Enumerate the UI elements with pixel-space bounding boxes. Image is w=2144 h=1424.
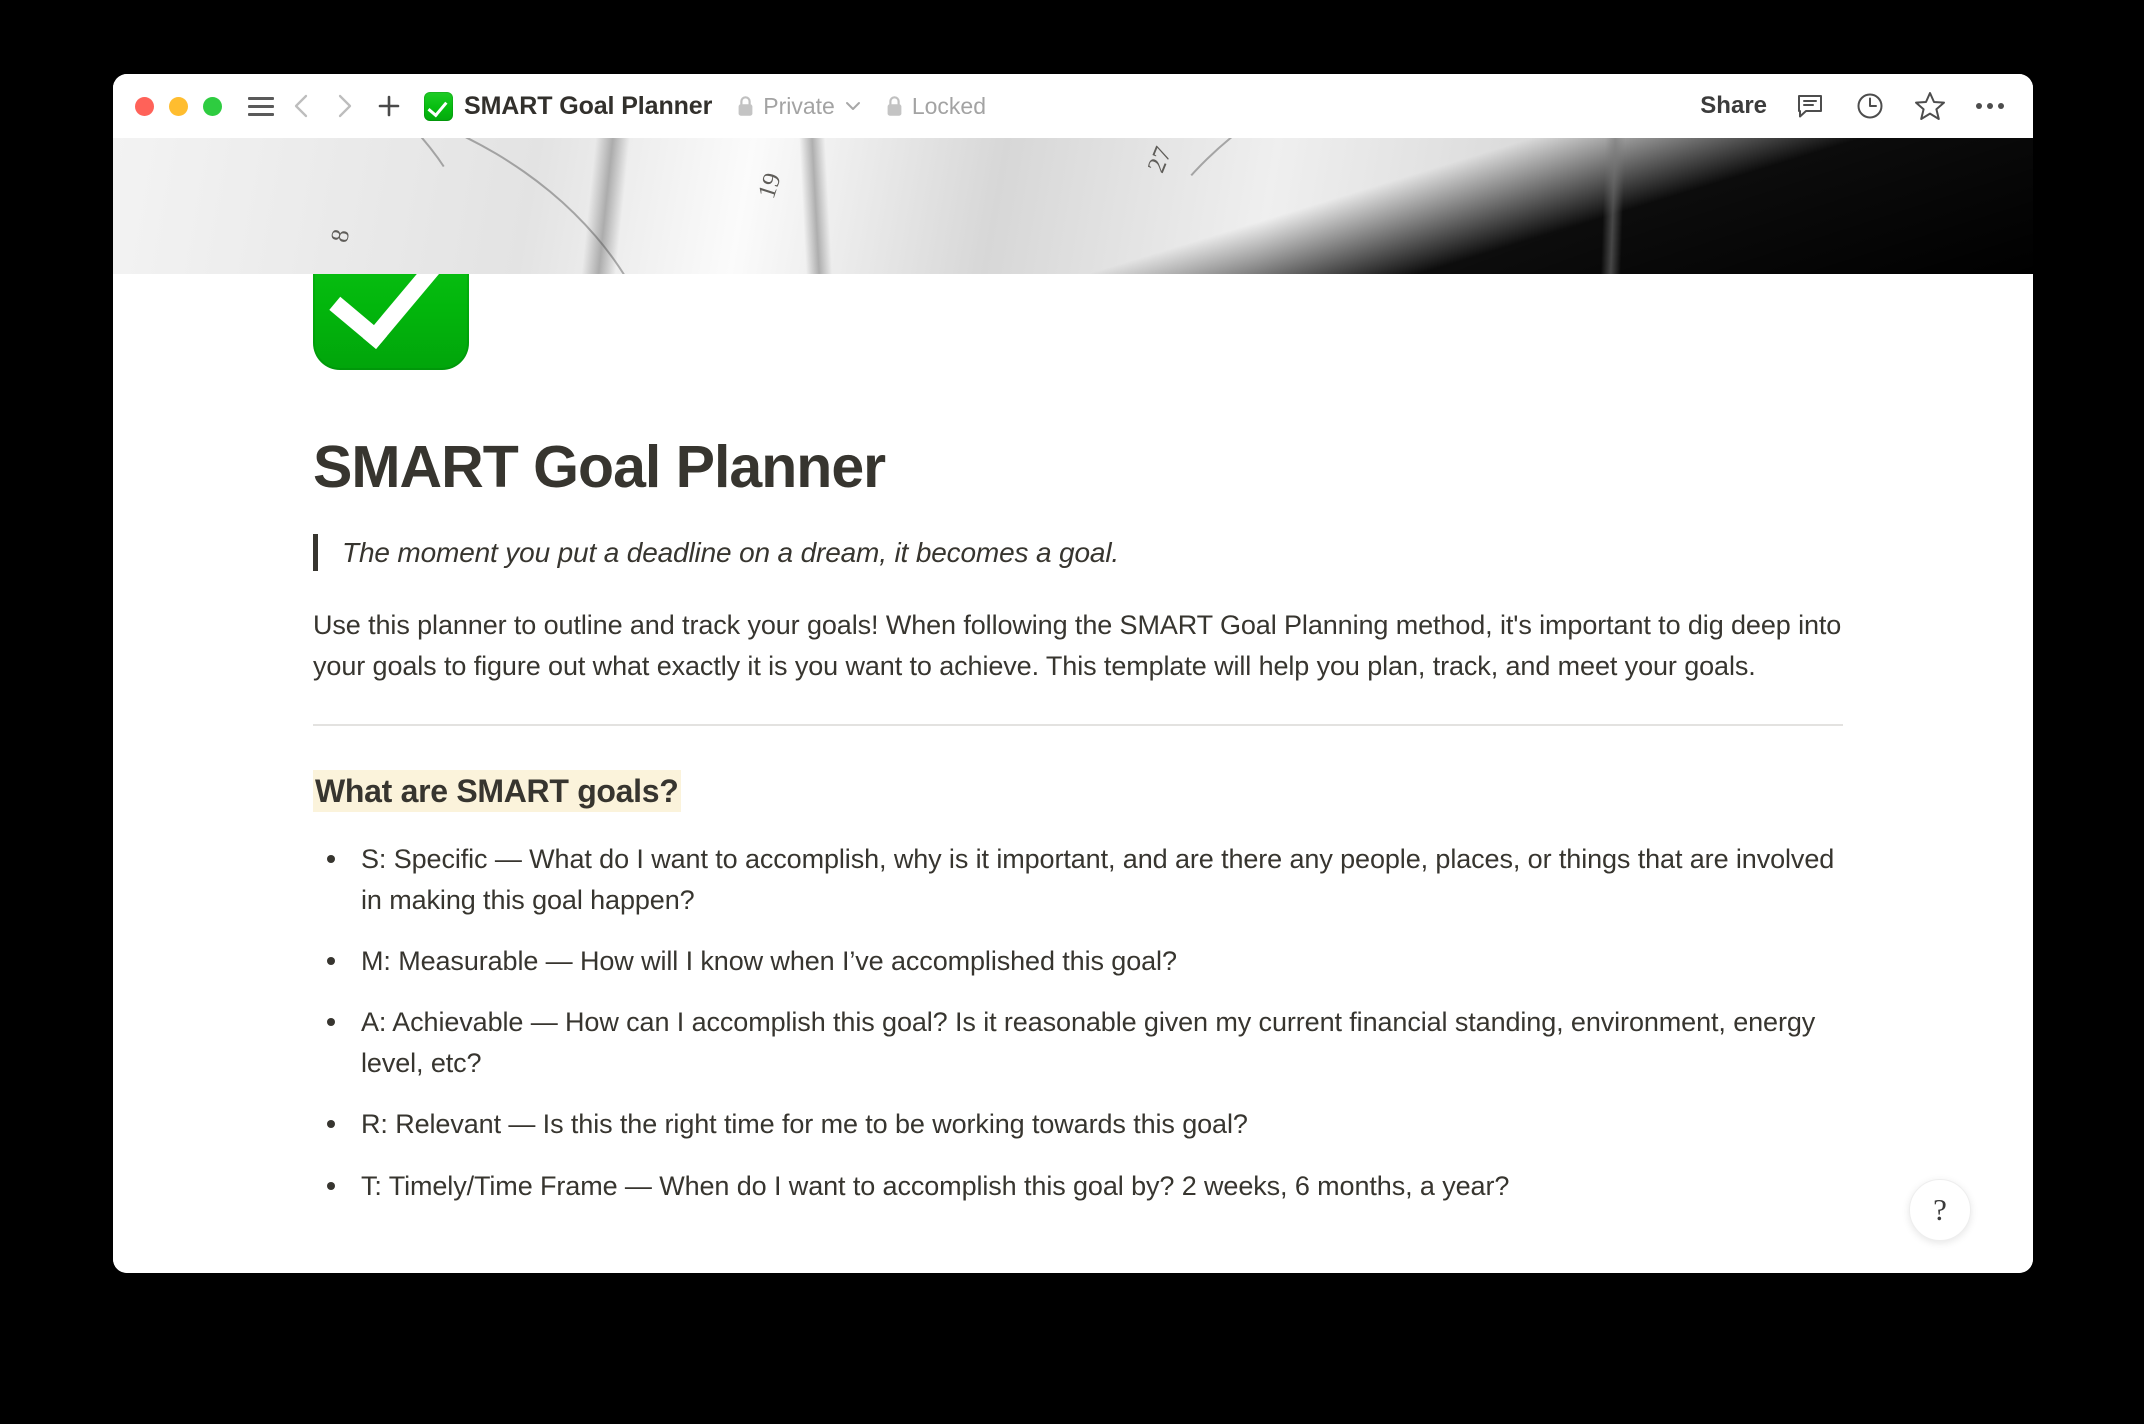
divider	[313, 724, 1843, 726]
list-item[interactable]: A: Achievable — How can I accomplish thi…	[313, 1002, 1843, 1084]
hamburger-icon	[248, 97, 274, 116]
ellipsis-icon	[1998, 103, 2004, 109]
bullet-icon	[327, 957, 335, 965]
plus-icon	[376, 93, 402, 119]
locked-label: Locked	[912, 93, 986, 120]
comments-button[interactable]	[1793, 89, 1827, 123]
smart-goals-list: S: Specific — What do I want to accompli…	[313, 839, 1843, 1206]
privacy-label: Private	[763, 93, 835, 120]
minimize-button[interactable]	[169, 97, 188, 116]
close-button[interactable]	[135, 97, 154, 116]
ellipsis-icon	[1987, 103, 1993, 109]
chevron-down-icon	[845, 101, 861, 111]
list-item[interactable]: R: Relevant — Is this the right time for…	[313, 1104, 1843, 1145]
privacy-selector[interactable]: Private	[736, 93, 861, 120]
app-window: SMART Goal Planner Private Locked Share	[113, 74, 2033, 1273]
maximize-button[interactable]	[203, 97, 222, 116]
page-emoji-icon	[424, 92, 453, 121]
star-icon	[1914, 90, 1946, 122]
page-body: SMART Goal Planner The moment you put a …	[113, 274, 2033, 1273]
breadcrumb[interactable]: SMART Goal Planner	[424, 92, 712, 121]
section-heading-wrapper: What are SMART goals?	[313, 770, 1843, 813]
page-content: SMART Goal Planner The moment you put a …	[313, 434, 1843, 1227]
forward-button[interactable]	[328, 89, 362, 123]
ellipsis-icon	[1976, 103, 1982, 109]
share-button[interactable]: Share	[1700, 92, 1767, 120]
more-options-button[interactable]	[1973, 89, 2007, 123]
list-item-text: R: Relevant — Is this the right time for…	[361, 1104, 1843, 1145]
quote-text: The moment you put a deadline on a dream…	[342, 537, 1119, 569]
page-title[interactable]: SMART Goal Planner	[313, 434, 1843, 500]
page-cover[interactable]: 8 19 27	[113, 138, 2033, 274]
bullet-icon	[327, 855, 335, 863]
quote-bar	[313, 534, 318, 571]
window-controls	[135, 97, 222, 116]
cover-photo: 8 19 27	[113, 138, 2033, 274]
list-item-text: S: Specific — What do I want to accompli…	[361, 839, 1843, 921]
locked-indicator[interactable]: Locked	[885, 93, 986, 120]
comment-icon	[1795, 91, 1825, 121]
list-item-text: A: Achievable — How can I accomplish thi…	[361, 1002, 1843, 1084]
list-item[interactable]: T: Timely/Time Frame — When do I want to…	[313, 1166, 1843, 1207]
new-page-button[interactable]	[372, 89, 406, 123]
lock-icon	[736, 95, 755, 118]
toolbar: SMART Goal Planner Private Locked Share	[113, 74, 2033, 138]
sidebar-toggle-button[interactable]	[244, 89, 278, 123]
list-item-text: M: Measurable — How will I know when I’v…	[361, 941, 1843, 982]
section-heading[interactable]: What are SMART goals?	[313, 770, 681, 812]
back-button[interactable]	[284, 89, 318, 123]
cover-number: 19	[753, 170, 787, 202]
list-item[interactable]: S: Specific — What do I want to accompli…	[313, 839, 1843, 921]
intro-paragraph[interactable]: Use this planner to outline and track yo…	[313, 605, 1843, 687]
toolbar-actions: Share	[1700, 89, 2007, 123]
bullet-icon	[327, 1182, 335, 1190]
history-button[interactable]	[1853, 89, 1887, 123]
lock-icon	[885, 95, 904, 118]
quote-block[interactable]: The moment you put a deadline on a dream…	[313, 534, 1843, 571]
chevron-right-icon	[336, 92, 354, 120]
page-emoji-icon[interactable]	[313, 274, 469, 370]
bullet-icon	[327, 1120, 335, 1128]
chevron-left-icon	[292, 92, 310, 120]
help-button[interactable]: ?	[1909, 1179, 1971, 1241]
breadcrumb-page-title: SMART Goal Planner	[464, 92, 712, 121]
favorite-button[interactable]	[1913, 89, 1947, 123]
bullet-icon	[327, 1018, 335, 1026]
clock-icon	[1855, 91, 1885, 121]
list-item-text: T: Timely/Time Frame — When do I want to…	[361, 1166, 1843, 1207]
navigation-group	[284, 89, 406, 123]
list-item[interactable]: M: Measurable — How will I know when I’v…	[313, 941, 1843, 982]
